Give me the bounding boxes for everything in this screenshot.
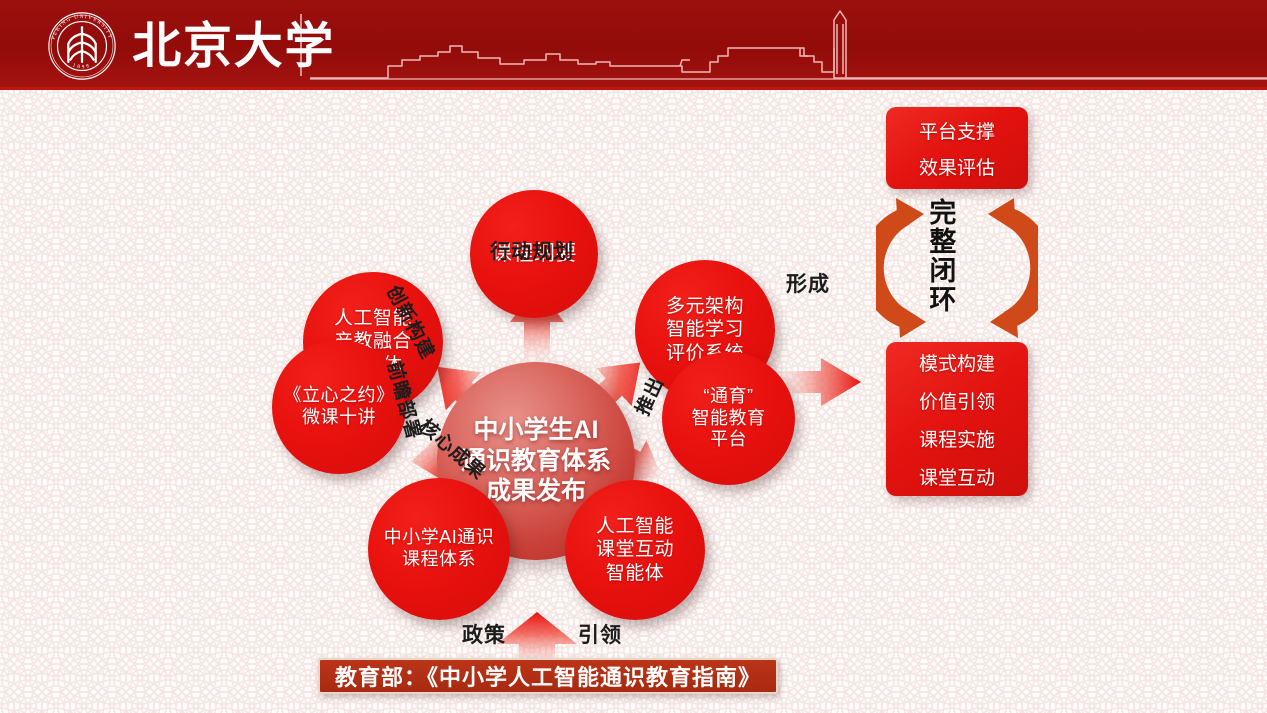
arrow-label-action-plan: 行动规划 [490,235,574,264]
node-lixin-micro-course-line-2: 微课十讲 [302,407,376,429]
card-model-construction[interactable]: 模式构建 价值引领 课程实施 课堂互动 [886,342,1028,496]
campus-skyline-graphic [310,0,1267,90]
arrow-label-form: 形成 [786,268,830,298]
card-model-construction-line-3: 课程实施 [919,425,995,452]
node-classroom-agent-line-1: 人工智能 [596,515,674,538]
brand-lockup: PEKING UNIVERSITY 1898 [46,10,350,82]
node-classroom-agent-line-3: 智能体 [606,562,665,585]
page-header: PEKING UNIVERSITY 1898 [0,0,1267,90]
footer-label-policy: 政策 [462,619,506,649]
node-lixin-micro-course-line-1: 《立心之约》 [284,385,395,407]
footer-label-guidance: 引领 [578,619,622,649]
university-name-text: 北京大学 [132,18,335,73]
card-model-construction-line-2: 价值引领 [919,387,995,414]
node-ai-curriculum[interactable]: 中小学AI通识 课程体系 [368,478,510,620]
node-ai-curriculum-line-2: 课程体系 [402,549,476,571]
footer-banner-text: 教育部：《中小学人工智能通识教育指南》 [335,660,761,692]
closed-loop-arrows [876,192,1038,344]
node-tongyu-platform[interactable]: “通育” 智能教育 平台 [662,352,795,485]
node-eval-system-line-2: 智能学习 [666,318,744,341]
hub-line-3: 成果发布 [486,476,586,507]
node-classroom-agent[interactable]: 人工智能 课堂互动 智能体 [565,480,705,620]
slide-canvas: 中小学生AI 通识教育体系 成果发布 课程纲要 人工智能 产教融合 联合体 多元… [0,90,1267,713]
card-model-construction-line-4: 课堂互动 [919,463,995,490]
header-divider [300,14,302,76]
card-model-construction-line-1: 模式构建 [919,349,995,376]
hub-line-1: 中小学生AI [473,415,598,446]
card-platform-support-line-1: 平台支撑 [919,117,995,144]
node-tongyu-platform-line-1: “通育” [704,386,754,408]
card-platform-support[interactable]: 平台支撑 效果评估 [886,107,1028,189]
node-ai-curriculum-line-1: 中小学AI通识 [384,527,495,549]
footer-policy-banner[interactable]: 教育部：《中小学人工智能通识教育指南》 [318,658,778,694]
closed-loop-label: 完整闭环 [926,198,954,314]
node-tongyu-platform-line-3: 平台 [710,429,747,451]
node-eval-system-line-1: 多元架构 [666,295,744,318]
pku-seal-icon: PEKING UNIVERSITY 1898 [46,10,118,82]
node-tongyu-platform-line-2: 智能教育 [692,408,766,430]
node-lixin-micro-course[interactable]: 《立心之约》 微课十讲 [272,340,406,474]
card-platform-support-line-2: 效果评估 [919,153,995,180]
node-classroom-agent-line-2: 课堂互动 [596,538,674,561]
